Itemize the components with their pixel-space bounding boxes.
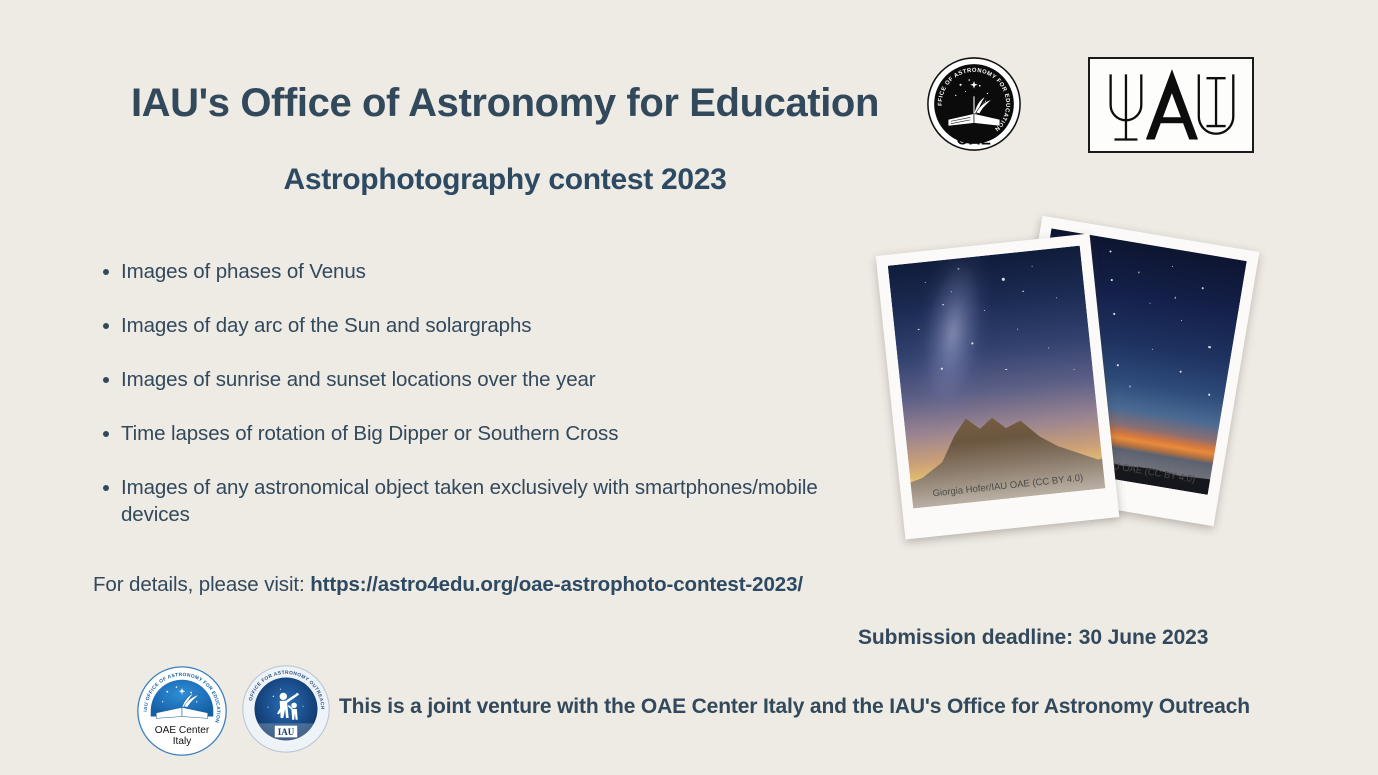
iau-logo bbox=[1088, 57, 1254, 153]
photo-milkyway-mountains: Giorgia Hofer/IAU OAE (CC BY 4.0) bbox=[876, 234, 1120, 540]
photo-stack: Amirreza Kamkar/IAU OAE (CC BY 4.0) bbox=[860, 222, 1260, 542]
office-for-astronomy-outreach-logo: OFFICE FOR ASTRONOMY OUTREACH bbox=[241, 663, 331, 755]
astrophotography-contest-poster: IAU's Office of Astronomy for Education … bbox=[0, 0, 1378, 775]
photo-milkyway-mountains-image: Giorgia Hofer/IAU OAE (CC BY 4.0) bbox=[888, 246, 1105, 509]
contest-category-list: Images of phases of Venus Images of day … bbox=[96, 258, 886, 555]
submission-deadline: Submission deadline: 30 June 2023 bbox=[858, 626, 1208, 650]
svg-text:IAU: IAU bbox=[278, 727, 295, 737]
list-item: Images of phases of Venus bbox=[96, 258, 886, 285]
joint-venture-note: This is a joint venture with the OAE Cen… bbox=[339, 695, 1250, 719]
svg-text:Italy: Italy bbox=[173, 736, 192, 747]
contest-url-link[interactable]: https://astro4edu.org/oae-astrophoto-con… bbox=[310, 573, 803, 596]
list-item: Images of any astronomical object taken … bbox=[96, 474, 886, 528]
details-line: For details, please visit: https://astro… bbox=[93, 573, 803, 597]
details-prefix: For details, please visit: bbox=[93, 573, 310, 596]
list-item: Images of day arc of the Sun and solargr… bbox=[96, 312, 886, 339]
svg-text:OAE Center: OAE Center bbox=[155, 725, 210, 736]
oae-logo: IAU OFFICE OF ASTRONOMY FOR EDUCATION bbox=[926, 56, 1022, 152]
list-item: Time lapses of rotation of Big Dipper or… bbox=[96, 420, 886, 447]
list-item: Images of sunrise and sunset locations o… bbox=[96, 366, 886, 393]
svg-text:OAE: OAE bbox=[956, 131, 991, 148]
page-title: IAU's Office of Astronomy for Education bbox=[0, 80, 1010, 126]
page-subtitle: Astrophotography contest 2023 bbox=[0, 163, 1010, 198]
oae-center-italy-logo: IAU OFFICE OF ASTRONOMY FOR EDUCATION OA… bbox=[136, 665, 228, 757]
